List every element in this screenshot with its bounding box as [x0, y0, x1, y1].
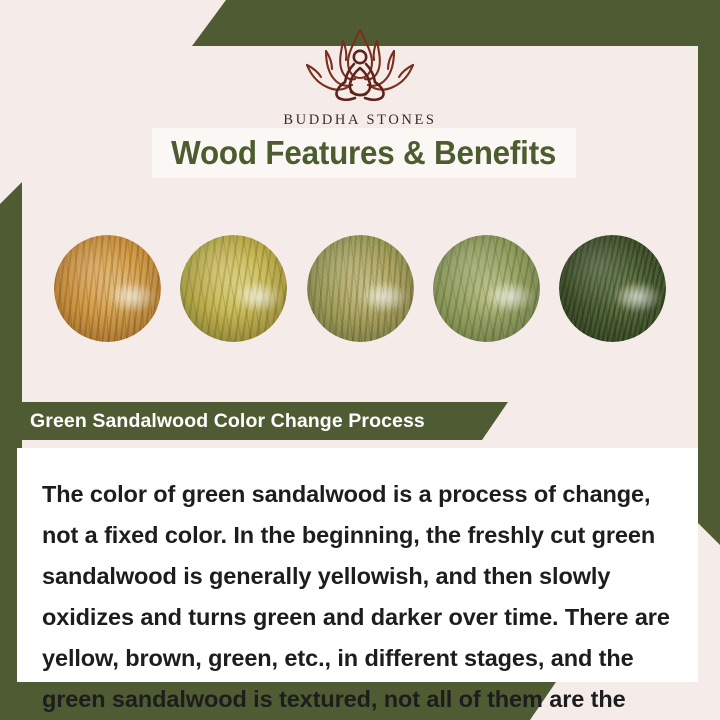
page-title-plaque: Wood Features & Benefits: [152, 128, 576, 178]
bead-stage-5: [559, 235, 666, 342]
poster-header: BUDDHA STONES Wood Features & Benefits: [0, 0, 720, 186]
bead-shading: [559, 235, 666, 342]
section-banner-title: Green Sandalwood Color Change Process: [16, 410, 425, 433]
bead-stage-4: [433, 235, 540, 342]
bead-stage-3: [307, 235, 414, 342]
bead-shading: [180, 235, 287, 342]
brand-name: BUDDHA STONES: [0, 112, 720, 129]
bead-stage-2: [180, 235, 287, 342]
brand-logo: BUDDHA STONES: [0, 24, 720, 129]
section-body-text: The color of green sandalwood is a proce…: [17, 448, 698, 720]
bead-shading: [433, 235, 540, 342]
bead-shading: [54, 235, 161, 342]
page-title: Wood Features & Benefits: [171, 134, 556, 172]
section-banner: Green Sandalwood Color Change Process: [16, 402, 508, 440]
lotus-meditating-figure-icon: [285, 24, 435, 110]
bead-stage-1: [54, 235, 161, 342]
bead-color-stages: [22, 186, 698, 390]
bead-shading: [307, 235, 414, 342]
section-body-card: The color of green sandalwood is a proce…: [17, 448, 698, 682]
poster-canvas: BUDDHA STONES Wood Features & Benefits: [0, 0, 720, 720]
